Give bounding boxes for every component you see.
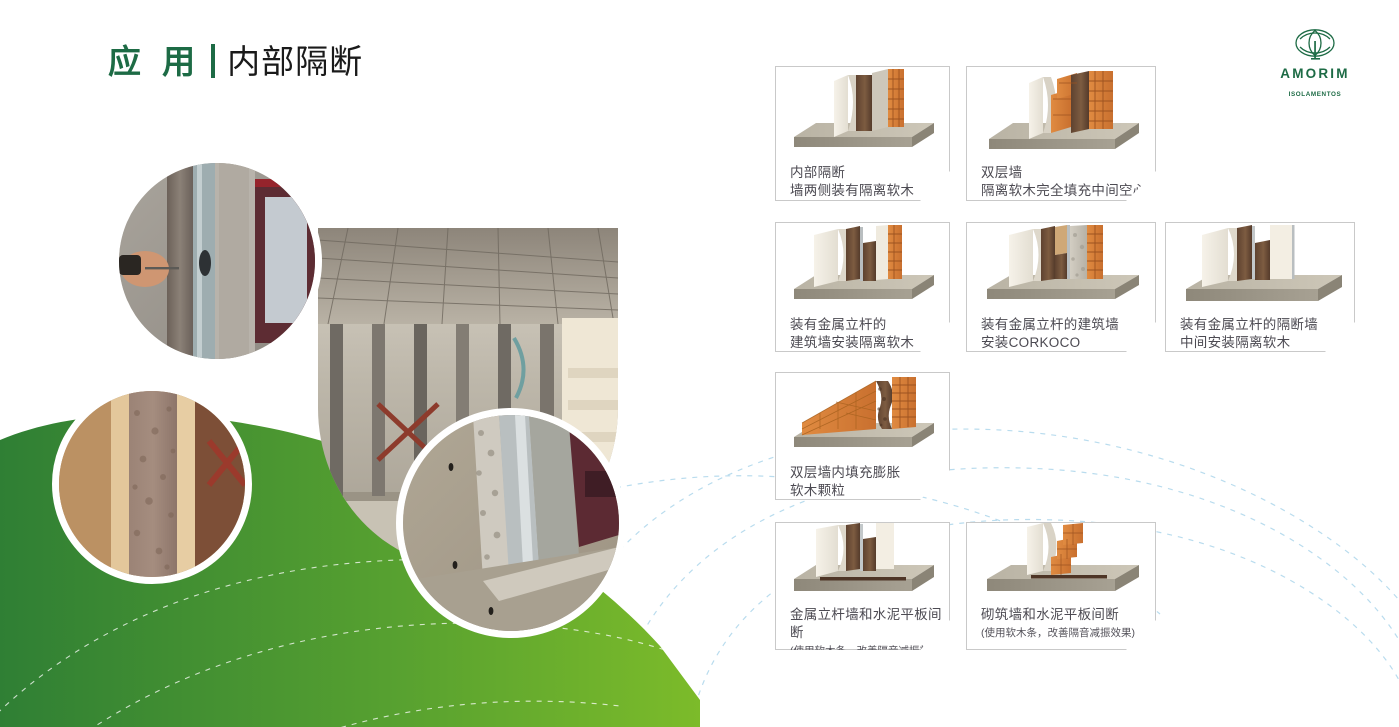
card-4-line1: 装有金属立杆的建筑墙 xyxy=(981,317,1119,332)
card-2-caption: 双层墙 隔离软木完全填充中间空心层 xyxy=(967,164,1155,229)
card-2-line2: 隔离软木完全填充中间空心层 xyxy=(981,182,1155,218)
figure-double-wall-expanded-cork-granules xyxy=(776,373,949,464)
card-4[interactable]: 装有金属立杆的建筑墙 安装CORKOCO xyxy=(966,222,1156,352)
card-6[interactable]: 双层墙内填充膨胀 软木颗粒 xyxy=(775,372,950,500)
card-1-caption: 内部隔断 墙两侧装有隔离软木 xyxy=(776,164,949,210)
card-8-line1: 砌筑墙和水泥平板间断 xyxy=(981,607,1119,622)
card-4-line2: 安装CORKOCO xyxy=(981,334,1155,352)
page-title-accent: 应 用 xyxy=(108,45,201,78)
photo-drywall-corner-with-cork xyxy=(396,408,626,638)
brand-logo: AMORIM ISOLAMENTOS xyxy=(1269,28,1361,101)
card-7-line1: 金属立杆墙和水泥平板间断 xyxy=(790,607,942,640)
figure-metal-stud-partition-cork-center xyxy=(1166,223,1354,316)
card-7[interactable]: 金属立杆墙和水泥平板间断 (使用软木条，改善隔音减振效果) xyxy=(775,522,950,650)
card-5-line1: 装有金属立杆的隔断墙 xyxy=(1180,317,1318,332)
figure-metal-stud-wall-slab-break xyxy=(776,523,949,606)
card-8-caption: 砌筑墙和水泥平板间断 (使用软木条，改善隔音减振效果) xyxy=(967,606,1155,650)
card-6-line2: 软木颗粒 xyxy=(790,482,949,500)
card-5-caption: 装有金属立杆的隔断墙 中间安装隔离软木 xyxy=(1166,316,1354,362)
slide-root: 应 用 内部隔断 AMORIM ISOLAMENTOS xyxy=(0,0,1399,727)
brand-name: AMORIM xyxy=(1280,66,1349,81)
photo-hand-installing-cork-on-metal-stud xyxy=(112,156,322,366)
card-2-line1: 双层墙 xyxy=(981,165,1022,180)
card-1[interactable]: 内部隔断 墙两侧装有隔离软木 xyxy=(775,66,950,201)
figure-metal-stud-wall-cork xyxy=(776,223,949,316)
page-title-main: 内部隔断 xyxy=(227,45,363,78)
figure-metal-stud-wall-corkoco xyxy=(967,223,1155,316)
figure-masonry-wall-slab-break xyxy=(967,523,1155,606)
photo-cork-between-timber-studs xyxy=(52,384,252,584)
card-1-line1: 内部隔断 xyxy=(790,165,845,180)
card-2[interactable]: 双层墙 隔离软木完全填充中间空心层 xyxy=(966,66,1156,201)
card-1-line2: 墙两侧装有隔离软木 xyxy=(790,182,949,200)
card-8[interactable]: 砌筑墙和水泥平板间断 (使用软木条，改善隔音减振效果) xyxy=(966,522,1156,650)
card-6-line1: 双层墙内填充膨胀 xyxy=(790,465,900,480)
brand-subtitle: ISOLAMENTOS xyxy=(1289,91,1342,98)
card-3-caption: 装有金属立杆的 建筑墙安装隔离软木 xyxy=(776,316,949,362)
card-7-caption: 金属立杆墙和水泥平板间断 (使用软木条，改善隔音减振效果) xyxy=(776,606,949,669)
card-4-caption: 装有金属立杆的建筑墙 安装CORKOCO xyxy=(967,316,1155,362)
card-5-line2: 中间安装隔离软木 xyxy=(1180,334,1354,352)
card-7-note: (使用软木条，改善隔音减振效果) xyxy=(790,644,949,658)
tree-logo-icon xyxy=(1291,28,1339,62)
figure-double-wall-cavity-filled xyxy=(967,67,1155,164)
page-title: 应 用 内部隔断 xyxy=(108,44,363,78)
card-3-line2: 建筑墙安装隔离软木 xyxy=(790,334,949,352)
title-divider xyxy=(211,44,215,78)
card-3[interactable]: 装有金属立杆的 建筑墙安装隔离软木 xyxy=(775,222,950,352)
figure-wall-cork-both-sides xyxy=(776,67,949,164)
card-6-caption: 双层墙内填充膨胀 软木颗粒 xyxy=(776,464,949,510)
card-5[interactable]: 装有金属立杆的隔断墙 中间安装隔离软木 xyxy=(1165,222,1355,352)
card-3-line1: 装有金属立杆的 xyxy=(790,317,887,332)
card-8-note: (使用软木条，改善隔音减振效果) xyxy=(981,626,1155,640)
